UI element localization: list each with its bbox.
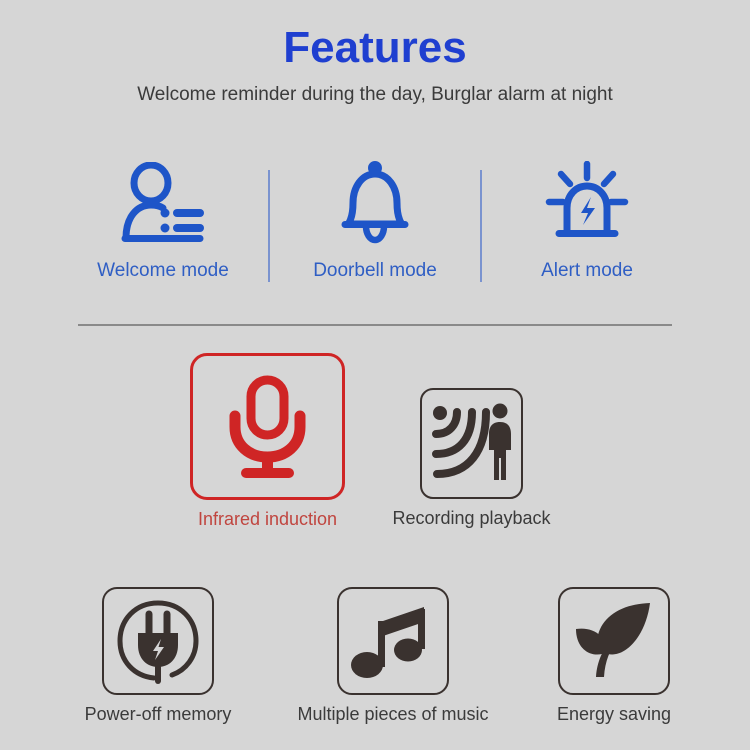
mode-label-welcome: Welcome mode [97, 260, 229, 282]
section-divider [78, 324, 672, 326]
energy-tile-box [558, 587, 670, 695]
power-tile-box [102, 587, 214, 695]
feature-tile-recording-playback[interactable]: Recording playback [420, 388, 523, 529]
page-header: Features Welcome reminder during the day… [0, 0, 750, 107]
motion-sensor-person-icon [431, 400, 513, 488]
bell-icon [332, 160, 418, 248]
mode-label-doorbell: Doorbell mode [313, 260, 437, 282]
page-title: Features [0, 0, 750, 74]
power-plug-icon [112, 597, 204, 685]
feature-row-three: Power-off memory Multiple pieces of musi… [0, 585, 750, 745]
feature-tile-infrared-induction[interactable]: Infrared induction [190, 353, 345, 530]
feature-label-energy-saving: Energy saving [557, 704, 671, 725]
mode-label-alert: Alert mode [541, 260, 633, 282]
person-list-icon [120, 160, 206, 248]
feature-tile-power-off-memory[interactable]: Power-off memory [102, 587, 214, 725]
siren-alert-icon [541, 160, 633, 248]
infrared-tile-box [190, 353, 345, 500]
feature-row-two: Infrared induction Recording playback [0, 350, 750, 545]
mode-item-doorbell[interactable]: Doorbell mode [270, 160, 480, 282]
feature-label-recording-playback: Recording playback [392, 508, 550, 529]
mode-row: Welcome mode Doorbell mode [40, 160, 710, 290]
feature-tile-energy-saving[interactable]: Energy saving [558, 587, 670, 725]
music-tile-box [337, 587, 449, 695]
music-note-icon [350, 599, 436, 683]
page-subtitle: Welcome reminder during the day, Burglar… [0, 74, 750, 107]
feature-tile-multiple-music[interactable]: Multiple pieces of music [337, 587, 449, 725]
recording-tile-box [420, 388, 523, 499]
microphone-icon [220, 372, 315, 482]
leaf-icon [570, 599, 658, 683]
feature-label-infrared-induction: Infrared induction [198, 509, 337, 530]
feature-label-multiple-music: Multiple pieces of music [297, 704, 488, 725]
feature-label-power-off-memory: Power-off memory [85, 704, 232, 725]
mode-item-welcome[interactable]: Welcome mode [58, 160, 268, 282]
feature-page: Features Welcome reminder during the day… [0, 0, 750, 750]
mode-item-alert[interactable]: Alert mode [482, 160, 692, 282]
